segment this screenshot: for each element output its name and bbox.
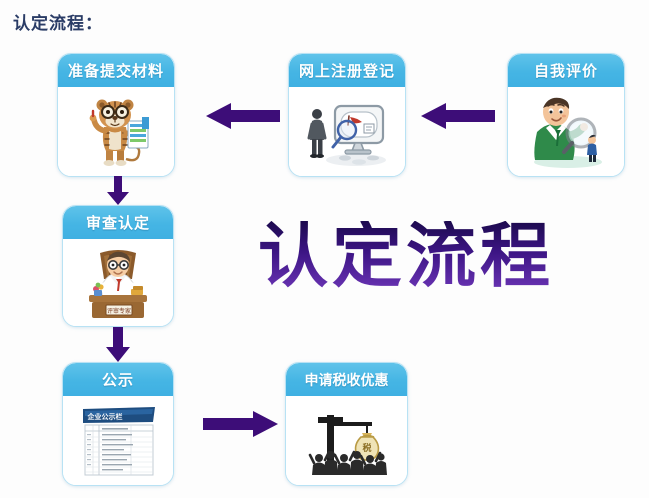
page-title: 认定流程： — [13, 9, 103, 34]
watermark-title: 认定流程 — [258, 221, 554, 291]
card-body-online-registration — [289, 87, 405, 176]
card-header-self-evaluation: 自我评价 — [508, 54, 624, 87]
money-bag-scale-icon: 税 — [305, 403, 389, 479]
flow-card-prepare-materials[interactable]: 准备提交材料 — [57, 53, 175, 177]
card-header-prepare-materials: 准备提交材料 — [58, 54, 174, 87]
arrow-review-to-notice — [104, 327, 132, 363]
card-label-apply-tax-benefit: 申请税收优惠 — [305, 370, 389, 390]
arrow-registration-to-prepare — [205, 101, 280, 131]
card-body-public-notice: 企业公示栏 — [63, 396, 173, 485]
card-label-online-registration: 网上注册登记 — [299, 60, 395, 81]
card-label-self-evaluation: 自我评价 — [534, 60, 598, 81]
card-header-public-notice: 公示 — [63, 363, 173, 396]
card-body-apply-tax-benefit: 税 — [286, 396, 407, 485]
notice-board-table-icon: 企业公示栏 — [75, 405, 161, 477]
card-header-review-certification: 审查认定 — [63, 206, 173, 239]
card-label-public-notice: 公示 — [102, 369, 134, 390]
tiger-with-documents-icon — [76, 91, 156, 173]
card-body-prepare-materials — [58, 87, 174, 176]
flowchart-canvas: 认定流程： 认定流程 准备提交材料 — [0, 0, 649, 498]
card-body-review-certification: 评审专家 — [63, 239, 173, 326]
flow-card-review-certification[interactable]: 审查认定 — [62, 205, 174, 327]
card-body-self-evaluation — [508, 87, 624, 176]
man-with-magnifier-icon — [523, 92, 609, 172]
arrow-evaluation-to-registration — [420, 101, 495, 131]
card-label-review-certification: 审查认定 — [86, 212, 150, 233]
arrow-notice-to-tax — [203, 408, 279, 440]
person-with-monitor-icon — [301, 94, 393, 170]
money-bag-mark-text: 税 — [362, 442, 371, 454]
flow-card-apply-tax-benefit[interactable]: 申请税收优惠 税 — [285, 362, 408, 486]
expert-nameplate-text: 评审专家 — [107, 307, 131, 315]
notice-board-banner-text: 企业公示栏 — [87, 412, 123, 421]
card-label-prepare-materials: 准备提交材料 — [68, 60, 164, 81]
expert-at-desk-icon: 评审专家 — [79, 245, 157, 321]
flow-card-online-registration[interactable]: 网上注册登记 — [288, 53, 406, 177]
flow-card-public-notice[interactable]: 公示 企业公示栏 — [62, 362, 174, 486]
card-header-apply-tax-benefit: 申请税收优惠 — [286, 363, 407, 396]
arrow-prepare-to-review — [104, 176, 132, 206]
flow-card-self-evaluation[interactable]: 自我评价 — [507, 53, 625, 177]
card-header-online-registration: 网上注册登记 — [289, 54, 405, 87]
